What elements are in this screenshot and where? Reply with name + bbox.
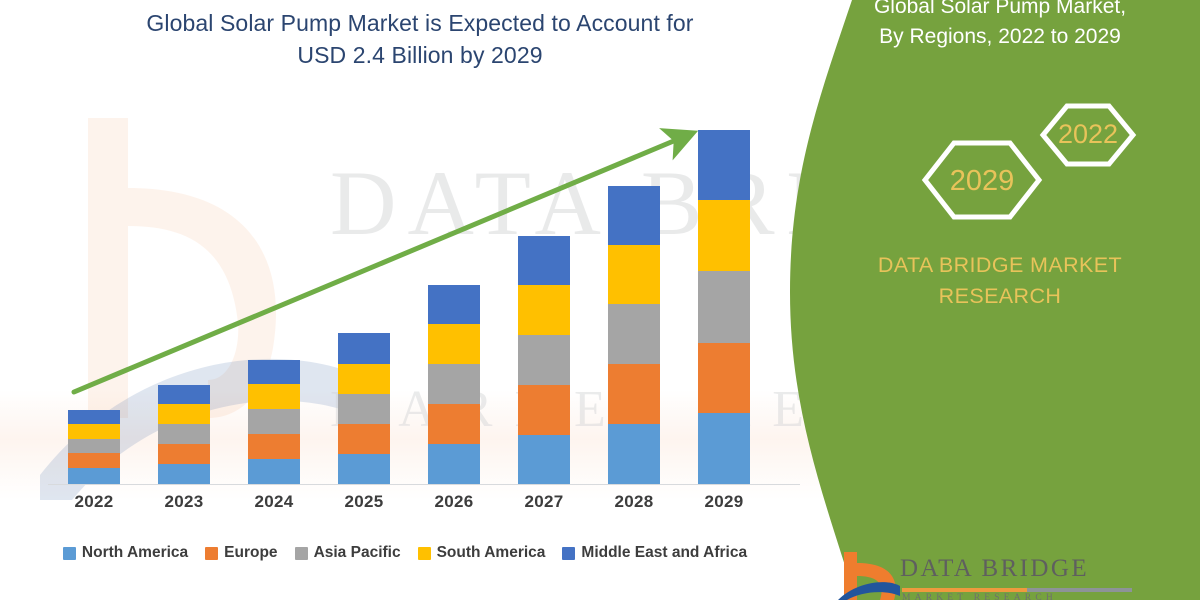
x-axis-tick-2023: 2023	[139, 492, 229, 512]
data-bridge-logo: DATA BRIDGE MARKET RESEARCH	[838, 552, 1178, 600]
bar-column-2022[interactable]	[68, 410, 120, 484]
bar-segment[interactable]	[68, 468, 120, 484]
legend-swatch-icon	[562, 547, 575, 560]
chart-title: Global Solar Pump Market is Expected to …	[60, 8, 780, 71]
bar-column-2023[interactable]	[158, 385, 210, 484]
side-panel: Global Solar Pump Market, By Regions, 20…	[790, 0, 1200, 600]
bar-column-2024[interactable]	[248, 360, 300, 484]
logo-divider	[902, 588, 1132, 592]
x-axis-tick-2029: 2029	[679, 492, 769, 512]
bar-segment[interactable]	[608, 364, 660, 424]
bar-segment[interactable]	[248, 409, 300, 434]
bar-segment[interactable]	[158, 404, 210, 424]
bar-segment[interactable]	[338, 454, 390, 484]
bar-column-2025[interactable]	[338, 333, 390, 484]
x-axis-tick-2024: 2024	[229, 492, 319, 512]
bar-segment[interactable]	[428, 444, 480, 484]
bar-segment[interactable]	[608, 245, 660, 304]
bar-column-2028[interactable]	[608, 186, 660, 484]
chart-panel: Global Solar Pump Market is Expected to …	[0, 0, 840, 600]
bar-column-2029[interactable]	[698, 130, 750, 484]
bar-segment[interactable]	[698, 200, 750, 271]
chart-title-line-1: Global Solar Pump Market is Expected to …	[146, 10, 693, 36]
x-axis-tick-2025: 2025	[319, 492, 409, 512]
bar-segment[interactable]	[68, 410, 120, 424]
side-panel-brand-line-1: DATA BRIDGE MARKET	[878, 253, 1122, 277]
infographic-canvas: DATA BRIDGE MARKET RESEARCH Global Solar…	[0, 0, 1200, 600]
side-panel-brand-line-2: RESEARCH	[939, 284, 1062, 308]
side-panel-brand: DATA BRIDGE MARKET RESEARCH	[835, 250, 1165, 312]
plot-area	[0, 100, 840, 490]
logo-subtitle: MARKET RESEARCH	[902, 593, 1057, 600]
bar-segment[interactable]	[158, 385, 210, 404]
side-panel-content: Global Solar Pump Market, By Regions, 20…	[790, 0, 1200, 600]
bar-segment[interactable]	[248, 434, 300, 459]
bar-segment[interactable]	[608, 304, 660, 364]
bar-column-2027[interactable]	[518, 236, 570, 484]
legend-item[interactable]: Asia Pacific	[295, 544, 401, 562]
chart-title-line-2: USD 2.4 Billion by 2029	[297, 42, 542, 68]
bar-segment[interactable]	[338, 424, 390, 454]
bar-segment[interactable]	[158, 464, 210, 484]
bar-segment[interactable]	[68, 424, 120, 439]
bar-segment[interactable]	[608, 186, 660, 245]
bar-segment[interactable]	[428, 285, 480, 324]
bar-segment[interactable]	[68, 439, 120, 453]
side-panel-title-line-2: By Regions, 2022 to 2029	[879, 25, 1121, 48]
hexagon-2022-label: 2022	[1058, 119, 1118, 149]
bar-segment[interactable]	[518, 285, 570, 335]
bar-segment[interactable]	[698, 271, 750, 343]
side-panel-title: Global Solar Pump Market, By Regions, 20…	[820, 0, 1180, 52]
x-axis-tick-2026: 2026	[409, 492, 499, 512]
bar-segment[interactable]	[158, 444, 210, 464]
x-axis-tick-2027: 2027	[499, 492, 589, 512]
legend-swatch-icon	[63, 547, 76, 560]
bar-segment[interactable]	[338, 364, 390, 394]
legend-label: Europe	[224, 544, 277, 562]
bar-group	[0, 100, 840, 484]
bar-segment[interactable]	[698, 130, 750, 200]
hexagon-badges: 2022 2029	[910, 95, 1140, 235]
legend-swatch-icon	[205, 547, 218, 560]
legend-item[interactable]: Europe	[205, 544, 277, 562]
bar-segment[interactable]	[248, 384, 300, 409]
bar-column-2026[interactable]	[428, 285, 480, 484]
bar-segment[interactable]	[248, 360, 300, 384]
hexagon-2029-label: 2029	[950, 165, 1015, 197]
bar-segment[interactable]	[608, 424, 660, 484]
legend-label: Asia Pacific	[314, 544, 401, 562]
x-axis-tick-2028: 2028	[589, 492, 679, 512]
logo-wordmark: DATA BRIDGE	[900, 555, 1089, 583]
legend-swatch-icon	[418, 547, 431, 560]
bar-segment[interactable]	[428, 364, 480, 404]
bar-segment[interactable]	[428, 324, 480, 364]
bar-segment[interactable]	[68, 453, 120, 468]
bar-segment[interactable]	[698, 413, 750, 484]
x-axis-labels: 20222023202420252026202720282029	[0, 492, 840, 522]
bar-segment[interactable]	[428, 404, 480, 444]
legend-item[interactable]: South America	[418, 544, 546, 562]
bar-segment[interactable]	[248, 459, 300, 484]
side-panel-title-line-1: Global Solar Pump Market,	[874, 0, 1126, 18]
bar-segment[interactable]	[338, 394, 390, 424]
bar-segment[interactable]	[698, 343, 750, 413]
bar-segment[interactable]	[518, 385, 570, 435]
legend-label: South America	[437, 544, 546, 562]
bar-segment[interactable]	[518, 236, 570, 285]
chart-legend: North AmericaEuropeAsia PacificSouth Ame…	[0, 538, 810, 568]
bar-segment[interactable]	[338, 333, 390, 364]
bar-segment[interactable]	[158, 424, 210, 444]
legend-swatch-icon	[295, 547, 308, 560]
legend-label: North America	[82, 544, 188, 562]
legend-item[interactable]: North America	[63, 544, 188, 562]
bar-segment[interactable]	[518, 435, 570, 484]
legend-item[interactable]: Middle East and Africa	[562, 544, 747, 562]
x-axis-tick-2022: 2022	[49, 492, 139, 512]
bar-segment[interactable]	[518, 335, 570, 385]
legend-label: Middle East and Africa	[581, 544, 747, 562]
x-axis-line	[48, 484, 800, 485]
logo-mark-icon	[838, 552, 900, 600]
